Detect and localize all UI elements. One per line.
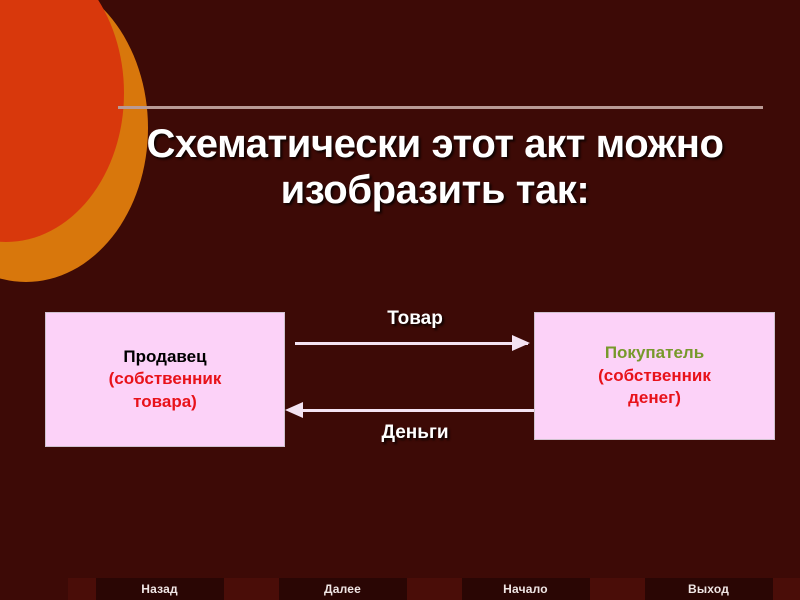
nav-cell-exit: Выход [617,578,800,600]
nav-cell-next: Далее [251,578,434,600]
money-arrow-head-icon [285,402,303,418]
buyer-subtitle-line1: (собственник [598,365,711,387]
seller-box[interactable]: Продавец (собственник товара) [45,312,285,447]
nav-cell-back: Назад [68,578,251,600]
goods-arrow-line [295,342,528,345]
buyer-box[interactable]: Покупатель (собственник денег) [534,312,775,440]
nav-home-button[interactable]: Начало [462,578,590,600]
presentation-slide: Схематически этот акт можно изобразить т… [0,0,800,600]
money-arrow-line [302,409,534,412]
seller-subtitle-line1: (собственник [109,368,222,390]
nav-exit-button[interactable]: Выход [645,578,773,600]
goods-arrow-head-icon [512,335,530,351]
nav-next-button[interactable]: Далее [279,578,407,600]
buyer-title: Покупатель [605,342,704,364]
seller-title: Продавец [123,346,206,368]
nav-back-button[interactable]: Назад [96,578,224,600]
goods-arrow-label: Товар [305,308,525,330]
slide-navigation-bar: Назад Далее Начало Выход [68,578,800,600]
nav-cell-home: Начало [434,578,617,600]
buyer-subtitle-line2: денег) [628,387,681,409]
seller-subtitle-line2: товара) [133,391,197,413]
money-arrow-label: Деньги [305,422,525,444]
exchange-diagram: Продавец (собственник товара) Покупатель… [0,0,800,600]
